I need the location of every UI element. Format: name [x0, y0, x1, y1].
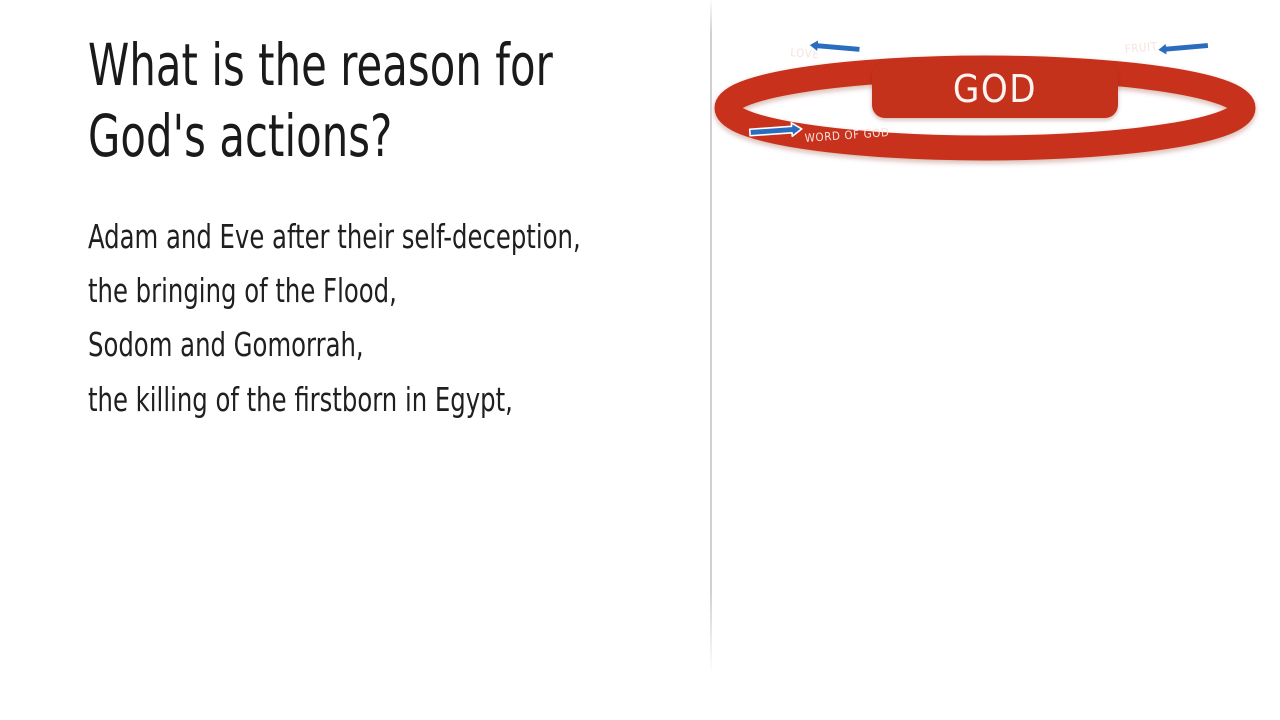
body-line-4: the killing of the firstborn in Egypt,	[88, 373, 695, 427]
cycle-diagram: GOD LOVE FRUIT WORD OF GOD	[712, 0, 1280, 220]
text-column: What is the reason for God's actions? Ad…	[88, 30, 688, 427]
body-line-3: Sodom and Gomorrah,	[88, 318, 695, 372]
god-box-label: GOD	[953, 67, 1037, 111]
fruit-arrow-icon	[1156, 39, 1209, 57]
fruit-segment: FRUIT	[1124, 39, 1209, 57]
love-segment: LOVE	[790, 38, 861, 61]
body-line-1: Adam and Eve after their self-deception,	[88, 210, 695, 264]
body-line-2: the bringing of the Flood,	[88, 264, 695, 318]
page-title: What is the reason for God's actions?	[88, 30, 696, 172]
slide-canvas: What is the reason for God's actions? Ad…	[0, 0, 1280, 720]
body-text-block: Adam and Eve after their self-deception,…	[88, 210, 695, 428]
fruit-label: FRUIT	[1124, 39, 1158, 56]
